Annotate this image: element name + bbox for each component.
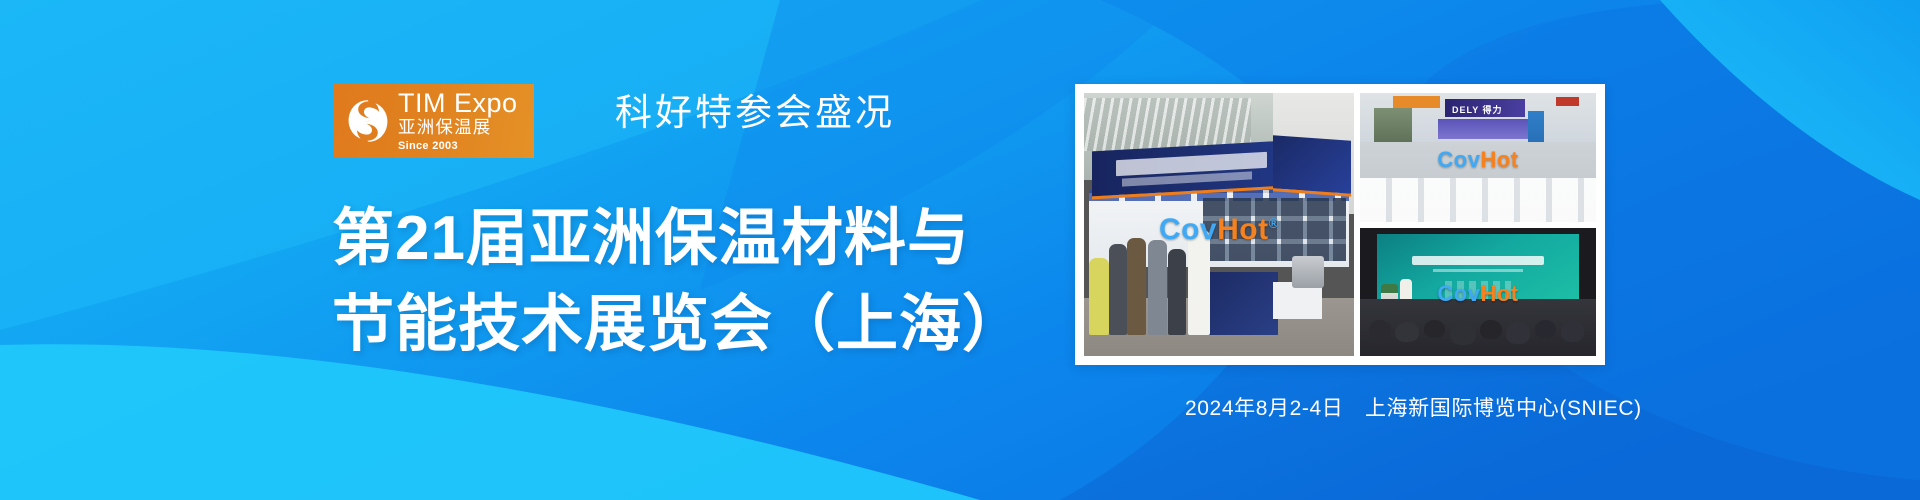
audience-head bbox=[1561, 321, 1585, 342]
watermark-covhot: CovHot bbox=[1437, 147, 1518, 173]
banner-subtitle: 科好特参会盛况 bbox=[615, 82, 895, 136]
hall-red-sign bbox=[1556, 97, 1580, 106]
forum-photo: CovHot bbox=[1360, 228, 1596, 357]
forum-screen-title bbox=[1412, 256, 1544, 265]
banner-content: TIM Expo 亚洲保温展 Since 2003 科好特参会盛况 第21届亚洲… bbox=[0, 0, 1060, 500]
headline-line-2: 节能技术展览会（上海） bbox=[332, 282, 1025, 368]
visitor-figure bbox=[1089, 258, 1108, 335]
booth-machine-sample bbox=[1292, 256, 1324, 288]
forum-audience bbox=[1360, 299, 1596, 356]
visitor-figure bbox=[1148, 240, 1167, 335]
booth-photo: CovHot® bbox=[1084, 93, 1354, 356]
visitor-figure bbox=[1168, 249, 1186, 335]
visitor-figure bbox=[1127, 238, 1146, 335]
dely-sign-text: DELY 得力 bbox=[1452, 103, 1503, 116]
headline-line-1: 第21届亚洲保温材料与 bbox=[332, 196, 1025, 282]
audience-head bbox=[1369, 320, 1390, 339]
logo-brand-en: TIM Expo bbox=[398, 90, 518, 117]
audience-head bbox=[1450, 322, 1476, 345]
forum-screen-subtitle bbox=[1433, 269, 1523, 273]
audience-head bbox=[1395, 322, 1419, 342]
booth-side-banner bbox=[1273, 135, 1351, 196]
watermark-covhot: CovHot bbox=[1437, 281, 1518, 307]
audience-head bbox=[1480, 320, 1501, 339]
watermark-covhot: CovHot® bbox=[1159, 213, 1279, 247]
visitor-figure bbox=[1109, 244, 1127, 335]
banner-headline: 第21届亚洲保温材料与 节能技术展览会（上海） bbox=[332, 196, 1025, 367]
exhibition-promo-banner: TIM Expo 亚洲保温展 Since 2003 科好特参会盛况 第21届亚洲… bbox=[0, 0, 1920, 500]
swirl-icon-svg bbox=[343, 96, 393, 146]
logo-brand-cn: 亚洲保温展 bbox=[398, 119, 518, 137]
exhibition-hall-photo: DELY 得力 CovHot bbox=[1360, 93, 1596, 222]
photo-collage: CovHot® DELY 得力 CovHot bbox=[1075, 84, 1605, 365]
hall-chairs-row bbox=[1360, 178, 1596, 222]
bg-cyan-corner-top-right bbox=[1660, 0, 1920, 200]
audience-head bbox=[1535, 320, 1556, 339]
date-and-venue: 2024年8月2-4日 上海新国际博览中心(SNIEC) bbox=[1185, 392, 1642, 422]
collage-right-column: DELY 得力 CovHot bbox=[1360, 93, 1596, 356]
booth-side-table bbox=[1273, 282, 1322, 319]
logo-text-block: TIM Expo 亚洲保温展 Since 2003 bbox=[398, 90, 518, 152]
audience-head bbox=[1424, 320, 1445, 338]
hall-orange-sign bbox=[1393, 96, 1440, 109]
hall-purple-booth bbox=[1438, 119, 1528, 140]
tim-expo-swirl-icon bbox=[343, 96, 393, 146]
tim-expo-logo-badge: TIM Expo 亚洲保温展 Since 2003 bbox=[334, 84, 534, 158]
audience-head bbox=[1506, 322, 1530, 343]
hall-green-wall bbox=[1374, 108, 1412, 144]
logo-since-label: Since 2003 bbox=[398, 141, 518, 152]
